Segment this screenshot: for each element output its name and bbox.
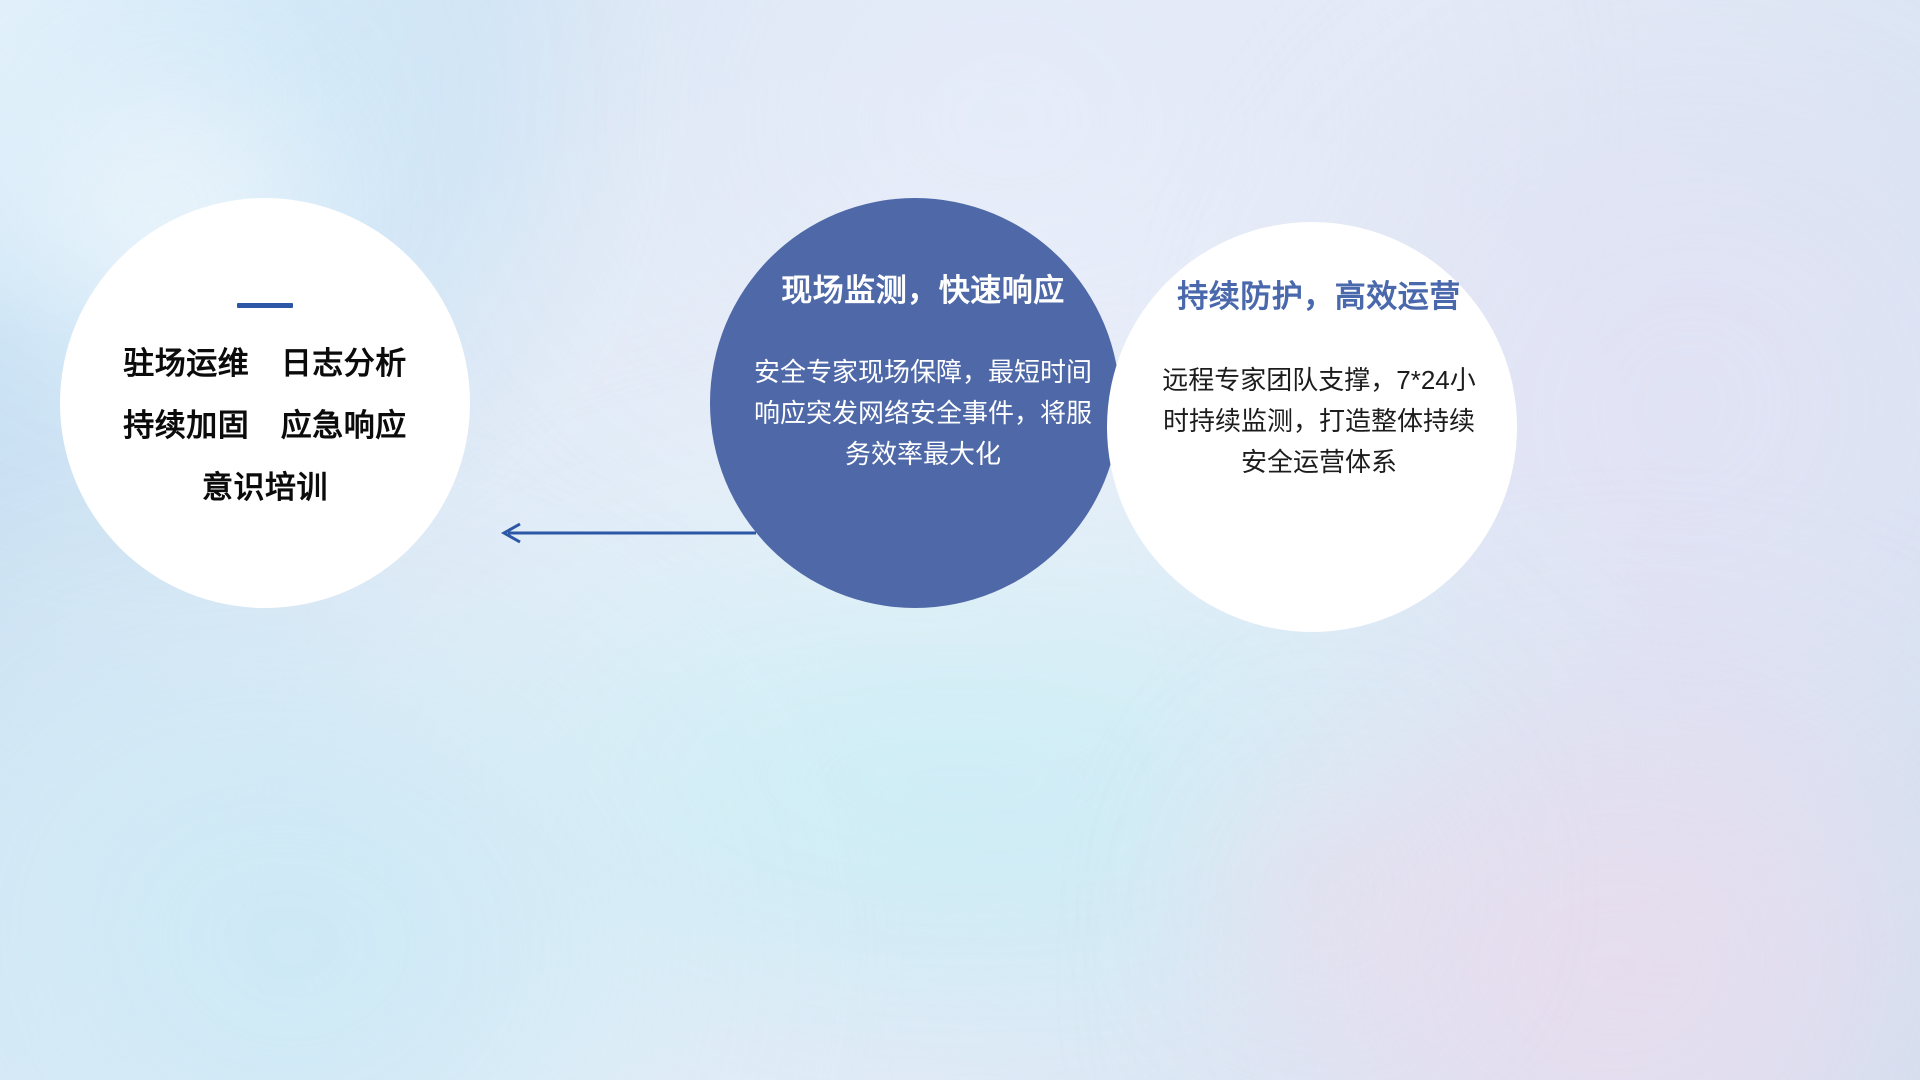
arrow-icon xyxy=(498,521,758,545)
continuous-protection-circle: 持续防护，高效运营 远程专家团队支撑，7*24小时持续监测，打造整体持续安全运营… xyxy=(1107,222,1517,632)
slide-canvas: 驻场运维 日志分析 持续加固 应急响应 意识培训 现场监测，快速响应 安全专家现… xyxy=(0,0,1920,1080)
onsite-monitoring-title: 现场监测，快速响应 xyxy=(744,274,1102,308)
onsite-monitoring-body: 安全专家现场保障，最短时间响应突发网络安全事件，将服务效率最大化 xyxy=(744,352,1102,475)
continuous-protection-content: 持续防护，高效运营 远程专家团队支撑，7*24小时持续监测，打造整体持续安全运营… xyxy=(1147,280,1491,483)
divider-rule xyxy=(237,303,293,308)
capabilities-circle: 驻场运维 日志分析 持续加固 应急响应 意识培训 xyxy=(60,198,470,608)
capability-line-3: 意识培训 xyxy=(202,472,328,503)
capability-line-2: 持续加固 应急响应 xyxy=(123,410,407,441)
continuous-protection-body: 远程专家团队支撑，7*24小时持续监测，打造整体持续安全运营体系 xyxy=(1147,360,1491,483)
capability-line-1: 驻场运维 日志分析 xyxy=(123,348,407,379)
capabilities-content: 驻场运维 日志分析 持续加固 应急响应 意识培训 xyxy=(60,198,470,608)
onsite-monitoring-circle: 现场监测，快速响应 安全专家现场保障，最短时间响应突发网络安全事件，将服务效率最… xyxy=(710,198,1120,608)
continuous-protection-title: 持续防护，高效运营 xyxy=(1147,280,1491,314)
flow-arrow-left xyxy=(498,521,758,545)
onsite-monitoring-content: 现场监测，快速响应 安全专家现场保障，最短时间响应突发网络安全事件，将服务效率最… xyxy=(744,274,1102,475)
